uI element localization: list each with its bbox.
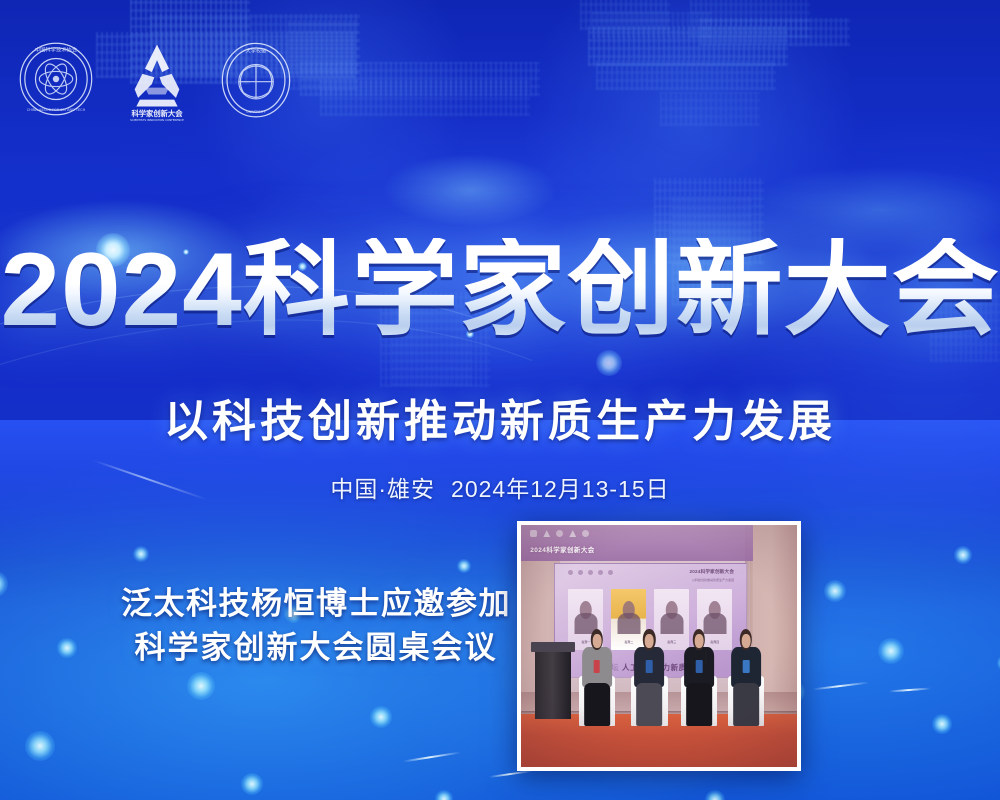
conference-poster: 中国科学技术协会 CHINA ASSOC FOR SCI AND TECH 科学… xyxy=(0,0,1000,800)
photo-banner-icons xyxy=(530,530,589,537)
event-location: 中国·雄安 xyxy=(330,476,435,502)
photo-panelist xyxy=(678,629,719,726)
roundtable-photo: 2024科学家创新大会 2024科学家创新大会 以科技创新推动新质生产力发展 嘉… xyxy=(521,525,797,767)
caption-line-1: 泛太科技杨恒博士应邀参加 xyxy=(120,582,512,626)
event-dates: 2024年12月13-15日 xyxy=(451,476,670,502)
photo-wall-banner: 2024科学家创新大会 xyxy=(521,525,753,561)
triangle-mark-logo: 科学家创新大会 SCIENTISTS INNOVATION CONFERENCE xyxy=(114,36,200,122)
svg-text:SCIENTISTS INNOVATION CONFEREN: SCIENTISTS INNOVATION CONFERENCE xyxy=(130,118,184,122)
svg-text:科学家创新大会: 科学家创新大会 xyxy=(131,109,183,118)
university-emblem-logo: 大学校徽 UNIVERSITY xyxy=(220,41,292,117)
photo-panelist xyxy=(576,629,617,726)
poster-subtitle: 以科技创新推动新质生产力发展 xyxy=(0,385,1000,449)
photo-panelist xyxy=(629,629,670,726)
photo-podium xyxy=(535,648,571,718)
event-dateline: 中国·雄安2024年12月13-15日 xyxy=(0,470,1000,504)
photo-microphone xyxy=(705,650,707,664)
roundtable-photo-frame: 2024科学家创新大会 2024科学家创新大会 以科技创新推动新质生产力发展 嘉… xyxy=(517,521,801,771)
svg-text:CHINA ASSOC FOR SCI AND TECH: CHINA ASSOC FOR SCI AND TECH xyxy=(27,108,86,112)
cast-emblem-logo: 中国科学技术协会 CHINA ASSOC FOR SCI AND TECH xyxy=(18,41,94,117)
poster-headline: 2024科学家创新大会 xyxy=(0,238,999,342)
photo-banner-text: 2024科学家创新大会 xyxy=(530,544,594,554)
caption-line-2: 科学家创新大会圆桌会议 xyxy=(120,626,512,670)
headline-container: 2024科学家创新大会 xyxy=(0,238,1000,342)
poster-caption: 泛太科技杨恒博士应邀参加 科学家创新大会圆桌会议 xyxy=(120,582,512,670)
photo-panelist xyxy=(725,629,766,726)
screen-title: 2024科学家创新大会 xyxy=(690,569,735,575)
screen-subtitle: 以科技创新推动新质生产力发展 xyxy=(692,578,734,582)
svg-text:UNIVERSITY: UNIVERSITY xyxy=(246,110,265,114)
logo-row: 中国科学技术协会 CHINA ASSOC FOR SCI AND TECH 科学… xyxy=(18,36,292,122)
